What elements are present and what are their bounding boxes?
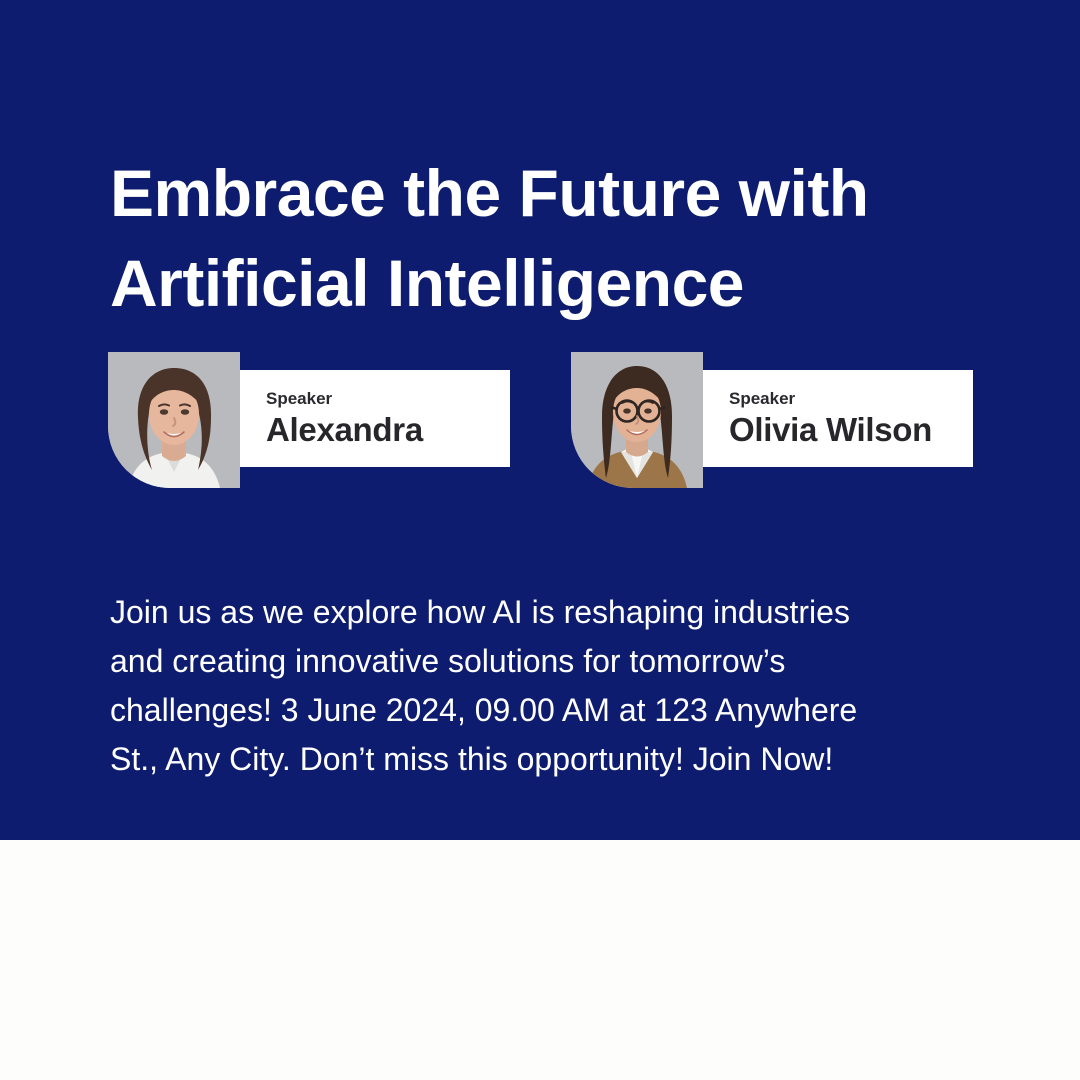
- speaker-card-alexandra: Speaker Alexandra: [108, 352, 510, 488]
- speaker-nameplate: Speaker Alexandra: [238, 370, 510, 467]
- event-description: Join us as we explore how AI is reshapin…: [110, 588, 1000, 784]
- headline-line-2: Artificial Intelligence: [110, 238, 1010, 328]
- body-line-2: and creating innovative solutions for to…: [110, 637, 1000, 686]
- speaker-role-label: Speaker: [729, 389, 973, 409]
- event-poster: Embrace the Future with Artificial Intel…: [0, 0, 1080, 1080]
- footer-bar: Capcut Free Registration! Follow our soc…: [0, 840, 1080, 1080]
- speaker-card-olivia-wilson: Speaker Olivia Wilson: [571, 352, 973, 488]
- page-title: Embrace the Future with Artificial Intel…: [110, 148, 1010, 328]
- body-line-4: St., Any City. Don’t miss this opportuni…: [110, 735, 1000, 784]
- body-line-1: Join us as we explore how AI is reshapin…: [110, 588, 1000, 637]
- speaker-name: Alexandra: [266, 411, 510, 449]
- speaker-photo: [108, 352, 240, 488]
- headline-line-1: Embrace the Future with: [110, 148, 1010, 238]
- speaker-name: Olivia Wilson: [729, 411, 973, 449]
- body-line-3: challenges! 3 June 2024, 09.00 AM at 123…: [110, 686, 1000, 735]
- speaker-role-label: Speaker: [266, 389, 510, 409]
- speaker-nameplate: Speaker Olivia Wilson: [701, 370, 973, 467]
- speaker-photo: [571, 352, 703, 488]
